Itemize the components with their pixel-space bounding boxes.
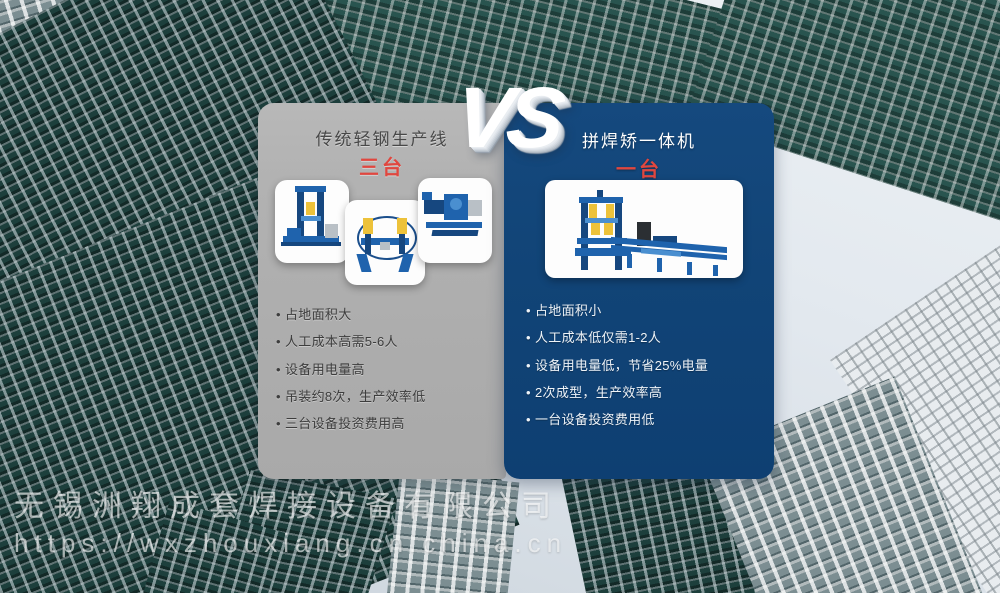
list-item: • 吊装约8次，生产效率低 xyxy=(276,389,496,405)
right-machine-card[interactable] xyxy=(545,180,743,278)
list-item-label: 设备用电量高 xyxy=(285,362,365,378)
left-bullet-list: • 占地面积大 • 人工成本高需5-6人 • 设备用电量高 • 吊装约8次，生产… xyxy=(276,307,496,443)
list-item-label: 设备用电量低，节省25%电量 xyxy=(535,358,708,374)
vs-badge: VS xyxy=(432,72,582,164)
bullet-dot-icon: • xyxy=(526,412,535,428)
machine-illustration-gantry-welder xyxy=(345,200,425,285)
list-item: • 设备用电量高 xyxy=(276,362,496,378)
bullet-dot-icon: • xyxy=(276,334,285,350)
bullet-dot-icon: • xyxy=(276,307,285,323)
bullet-dot-icon: • xyxy=(526,385,535,401)
list-item-label: 吊装约8次，生产效率低 xyxy=(285,389,426,405)
list-item: • 2次成型，生产效率高 xyxy=(526,385,764,401)
bullet-dot-icon: • xyxy=(276,389,285,405)
list-item: • 设备用电量低，节省25%电量 xyxy=(526,358,764,374)
list-item-label: 人工成本低仅需1-2人 xyxy=(535,330,661,346)
list-item: • 占地面积大 xyxy=(276,307,496,323)
left-machine-card-2[interactable] xyxy=(345,200,425,285)
left-machine-card-1[interactable] xyxy=(275,180,349,263)
list-item: • 三台设备投资费用高 xyxy=(276,416,496,432)
list-item-label: 占地面积小 xyxy=(535,303,602,319)
machine-illustration-straightener xyxy=(418,178,492,263)
watermark-url: https://wxzhouxiang.cn.china.cn xyxy=(14,526,804,561)
list-item: • 一台设备投资费用低 xyxy=(526,412,764,428)
bullet-dot-icon: • xyxy=(276,416,285,432)
list-item-label: 占地面积大 xyxy=(285,307,352,323)
list-item-label: 人工成本高需5-6人 xyxy=(285,334,398,350)
machine-illustration-integrated-line xyxy=(545,180,743,278)
list-item: • 人工成本高需5-6人 xyxy=(276,334,496,350)
list-item: • 人工成本低仅需1-2人 xyxy=(526,330,764,346)
list-item-label: 2次成型，生产效率高 xyxy=(535,385,662,401)
bullet-dot-icon: • xyxy=(526,303,535,319)
machine-illustration-assembly xyxy=(275,180,349,263)
left-machine-card-3[interactable] xyxy=(418,178,492,263)
list-item-label: 三台设备投资费用高 xyxy=(285,416,405,432)
poster-stage: 传统轻钢生产线 三台 xyxy=(0,0,1000,593)
list-item-label: 一台设备投资费用低 xyxy=(535,412,655,428)
watermark-company: 无锡洲翔成套焊接设备有限公司 xyxy=(14,488,804,526)
bullet-dot-icon: • xyxy=(276,362,285,378)
bullet-dot-icon: • xyxy=(526,330,535,346)
bullet-dot-icon: • xyxy=(526,358,535,374)
right-bullet-list: • 占地面积小 • 人工成本低仅需1-2人 • 设备用电量低，节省25%电量 •… xyxy=(526,303,764,439)
list-item: • 占地面积小 xyxy=(526,303,764,319)
watermark: 无锡洲翔成套焊接设备有限公司 https://wxzhouxiang.cn.ch… xyxy=(14,488,804,561)
